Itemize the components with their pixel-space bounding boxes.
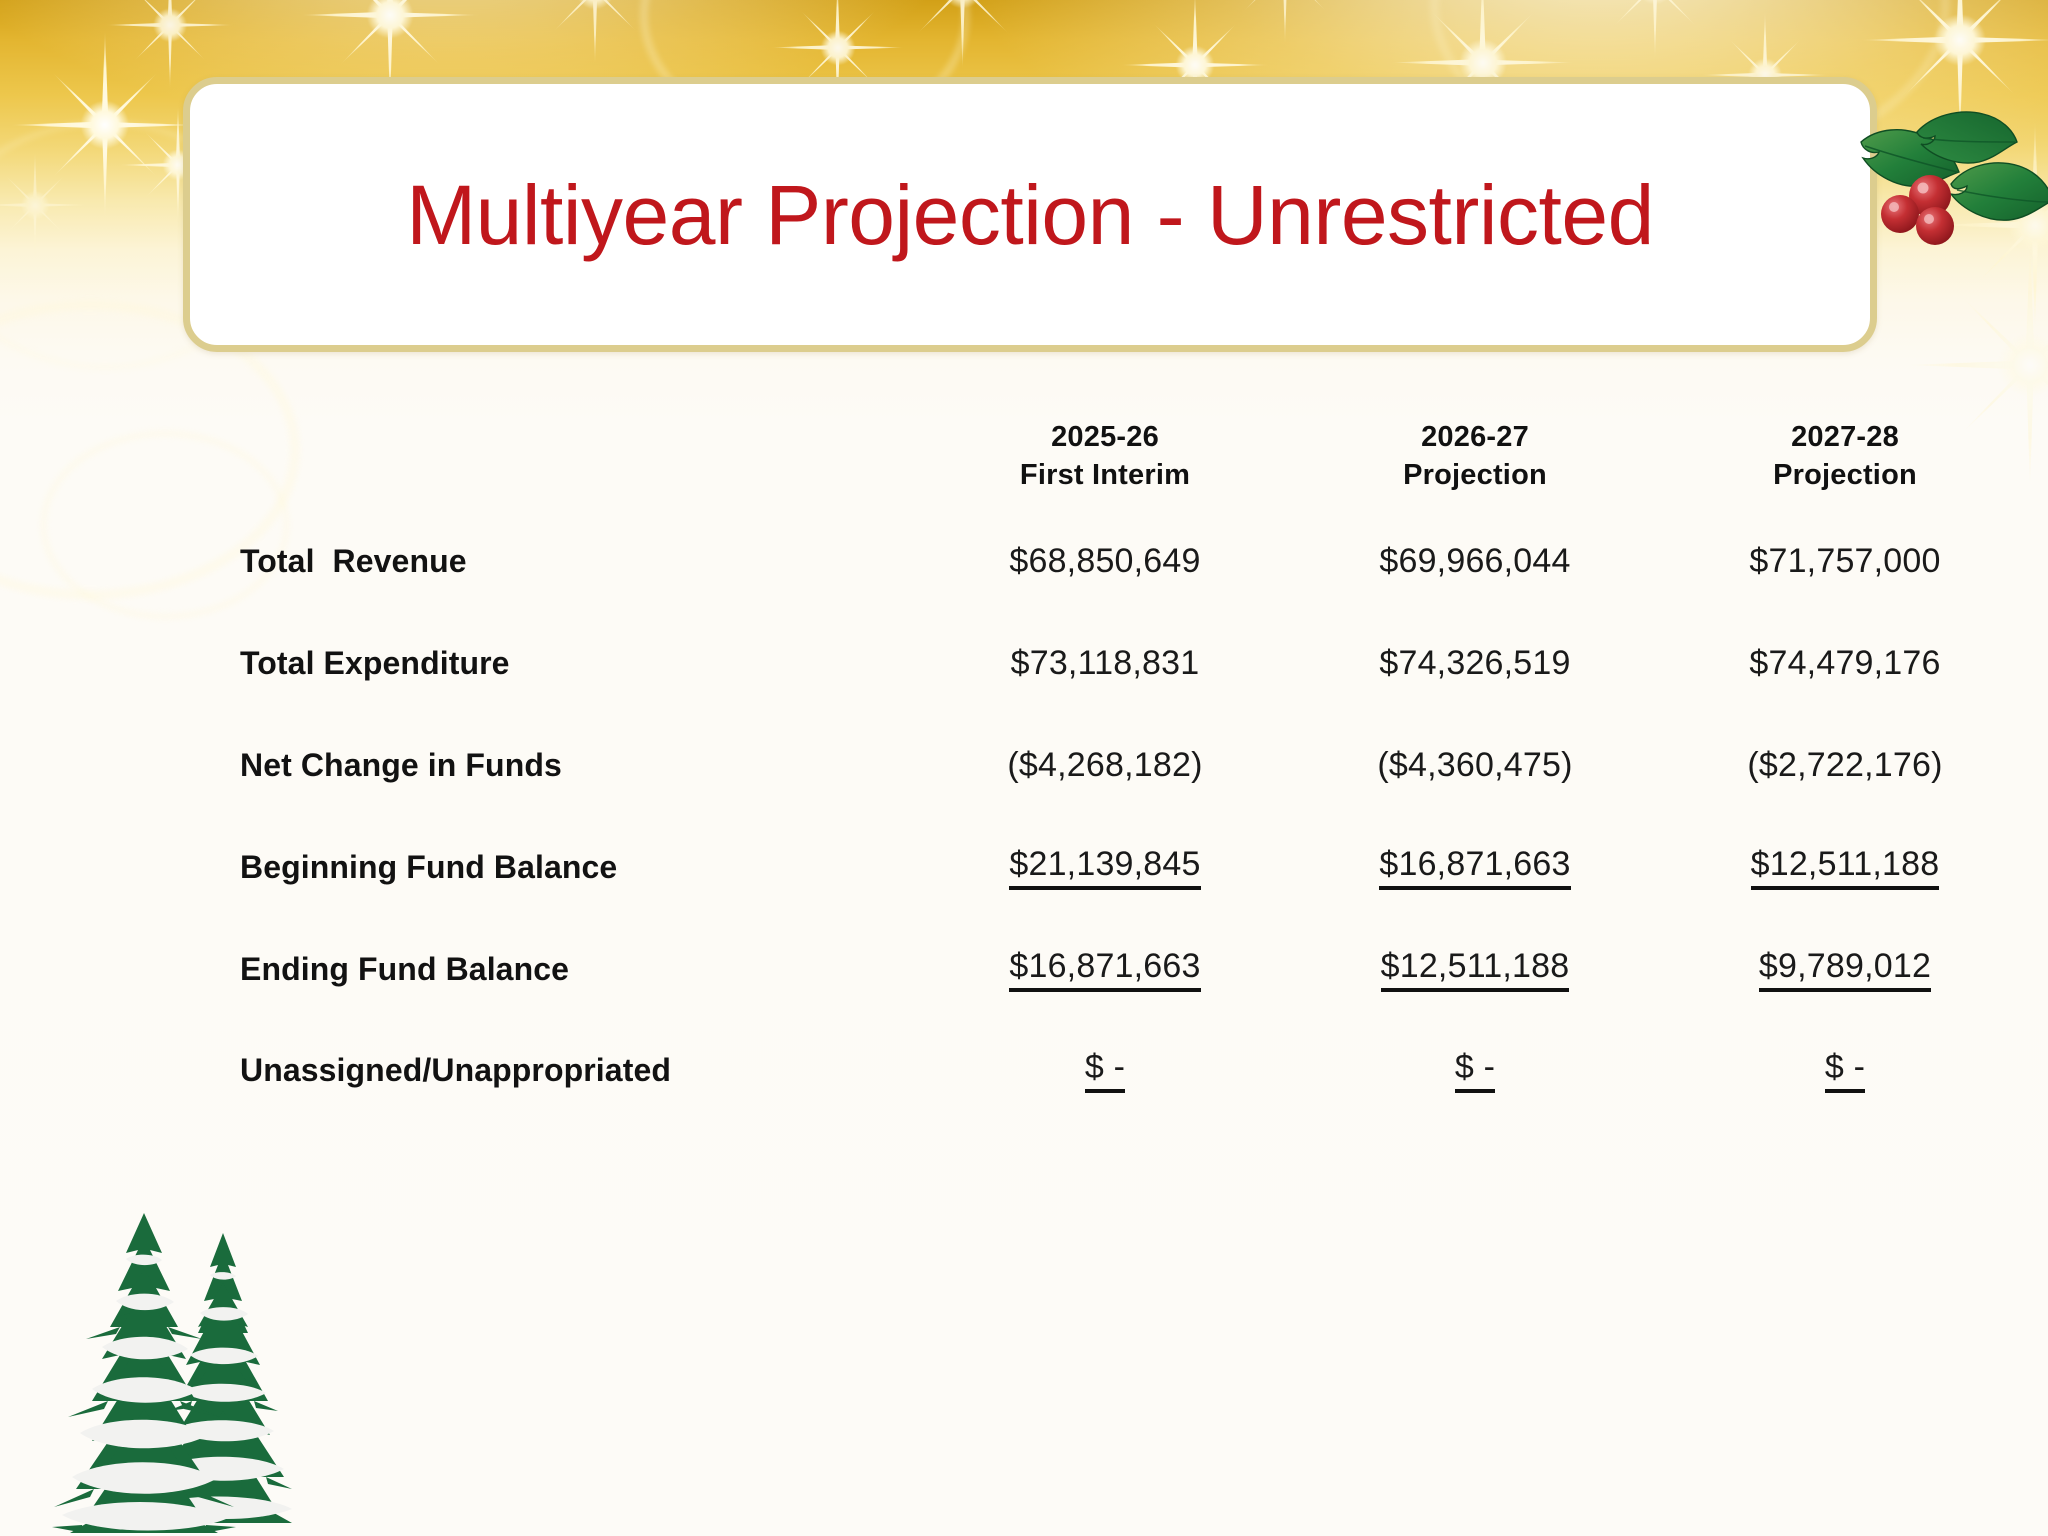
value-text: $16,871,663 xyxy=(1379,847,1570,890)
row-value: $ - xyxy=(1660,1021,2030,1121)
star-decoration xyxy=(10,30,200,220)
row-value: $21,139,845 xyxy=(920,817,1290,919)
row-label: Beginning Fund Balance xyxy=(240,817,920,919)
star-decoration xyxy=(880,0,1045,70)
multiyear-projection-table: 2025-26 First Interim 2026-27 Projection… xyxy=(240,418,2030,1121)
star-decoration xyxy=(1580,0,1730,60)
row-value: $ - xyxy=(920,1021,1290,1121)
column-header-line1: 2027-28 xyxy=(1660,418,2030,456)
row-value: $ - xyxy=(1290,1021,1660,1121)
value-text: ($4,268,182) xyxy=(1007,748,1202,784)
row-value: $73,118,831 xyxy=(920,613,1290,715)
value-text: $73,118,831 xyxy=(1011,646,1200,682)
value-text: $12,511,188 xyxy=(1751,847,1940,890)
row-value: $74,479,176 xyxy=(1660,613,2030,715)
value-text: $21,139,845 xyxy=(1009,847,1200,890)
row-value: $9,789,012 xyxy=(1660,919,2030,1021)
value-text: $71,757,000 xyxy=(1749,544,1940,580)
table-row: Total Expenditure $73,118,831 $74,326,51… xyxy=(240,613,2030,715)
value-text: $74,479,176 xyxy=(1749,646,1940,682)
column-header-line2: First Interim xyxy=(920,456,1290,494)
row-value: $74,326,519 xyxy=(1290,613,1660,715)
value-text: $69,966,044 xyxy=(1379,544,1570,580)
star-decoration xyxy=(1860,0,2048,140)
row-value: ($4,360,475) xyxy=(1290,715,1660,817)
table-row: Net Change in Funds ($4,268,182) ($4,360… xyxy=(240,715,2030,817)
row-value: $69,966,044 xyxy=(1290,511,1660,613)
title-box: Multiyear Projection - Unrestricted xyxy=(183,77,1877,352)
column-header-2026-27: 2026-27 Projection xyxy=(1290,418,1660,511)
table-row: Ending Fund Balance $16,871,663 $12,511,… xyxy=(240,919,2030,1021)
row-value: ($4,268,182) xyxy=(920,715,1290,817)
projection-table-container: 2025-26 First Interim 2026-27 Projection… xyxy=(0,418,2048,1121)
row-value: $71,757,000 xyxy=(1660,511,2030,613)
row-label: Ending Fund Balance xyxy=(240,919,920,1021)
row-value: ($2,722,176) xyxy=(1660,715,2030,817)
value-text: $68,850,649 xyxy=(1009,544,1200,580)
column-header-line1: 2026-27 xyxy=(1290,418,1660,456)
value-text: $ - xyxy=(1825,1050,1865,1093)
star-decoration xyxy=(1930,120,2048,330)
column-header-2027-28: 2027-28 Projection xyxy=(1660,418,2030,511)
column-header-line1: 2025-26 xyxy=(920,418,1290,456)
row-value: $68,850,649 xyxy=(920,511,1290,613)
value-text: $ - xyxy=(1085,1050,1125,1093)
table-row: Total Revenue $68,850,649 $69,966,044 $7… xyxy=(240,511,2030,613)
value-text: $16,871,663 xyxy=(1009,949,1200,992)
table-row: Beginning Fund Balance $21,139,845 $16,8… xyxy=(240,817,2030,919)
column-header-line2: Projection xyxy=(1290,456,1660,494)
value-text: $ - xyxy=(1455,1050,1495,1093)
row-label: Net Change in Funds xyxy=(240,715,920,817)
table-row: Unassigned/Unappropriated $ - $ - $ - xyxy=(240,1021,2030,1121)
row-label: Total Revenue xyxy=(240,511,920,613)
page-title: Multiyear Projection - Unrestricted xyxy=(406,173,1654,257)
value-text: $9,789,012 xyxy=(1759,949,1931,992)
row-value: $12,511,188 xyxy=(1660,817,2030,919)
row-label: Total Expenditure xyxy=(240,613,920,715)
table-body: Total Revenue $68,850,649 $69,966,044 $7… xyxy=(240,511,2030,1121)
row-label: Unassigned/Unappropriated xyxy=(240,1021,920,1121)
star-decoration xyxy=(520,0,670,65)
value-text: ($2,722,176) xyxy=(1747,748,1942,784)
star-decoration xyxy=(1210,0,1360,45)
table-header: 2025-26 First Interim 2026-27 Projection… xyxy=(240,418,2030,511)
value-text: $74,326,519 xyxy=(1379,646,1570,682)
value-text: ($4,360,475) xyxy=(1377,748,1572,784)
value-text: $12,511,188 xyxy=(1381,949,1570,992)
column-header-line2: Projection xyxy=(1660,456,2030,494)
row-value: $16,871,663 xyxy=(920,919,1290,1021)
row-value: $16,871,663 xyxy=(1290,817,1660,919)
column-header-blank xyxy=(240,418,920,511)
star-decoration xyxy=(0,150,90,260)
row-value: $12,511,188 xyxy=(1290,919,1660,1021)
column-header-2025-26: 2025-26 First Interim xyxy=(920,418,1290,511)
